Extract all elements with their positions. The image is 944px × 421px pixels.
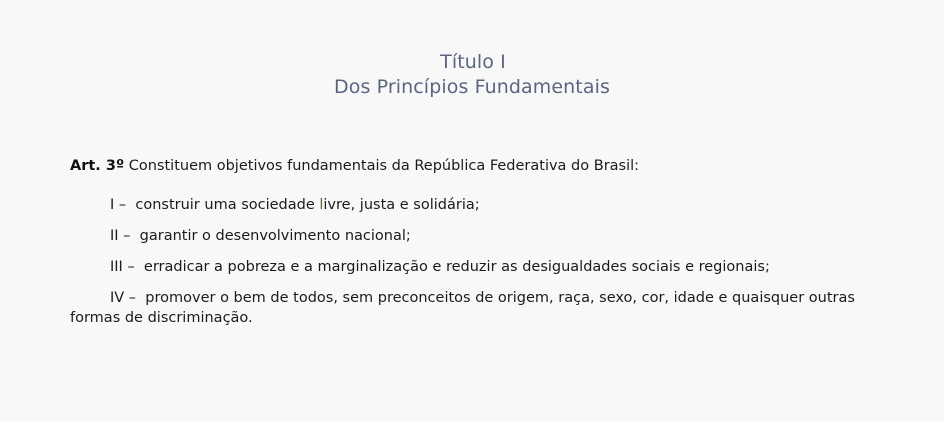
list-item-text: erradicar a pobreza e a marginalização e…	[139, 259, 770, 275]
list-item-text: promover o bem de todos, sem preconceito…	[70, 290, 855, 326]
article-lead-paragraph: Art. 3º Constituem objetivos fundamentai…	[70, 156, 884, 176]
list-item-dash: –	[123, 259, 139, 275]
list-item-numeral: II	[110, 228, 119, 244]
list-item-text: construir uma sociedade	[131, 197, 320, 213]
list-item-text: garantir o desenvolvimento nacional;	[135, 228, 411, 244]
document-page: Título I Dos Princípios Fundamentais Art…	[8, 0, 936, 421]
title-line-secondary: Dos Princípios Fundamentais	[8, 75, 936, 100]
article-body: Art. 3º Constituem objetivos fundamentai…	[8, 156, 936, 328]
list-item-numeral: III	[110, 259, 123, 275]
article-lead-text: Constituem objetivos fundamentais da Rep…	[124, 158, 639, 174]
list-item-dash: –	[119, 228, 135, 244]
article-number-label: Art. 3º	[70, 158, 124, 174]
list-item: I – construir uma sociedade livre, justa…	[70, 195, 884, 215]
list-item-dash: –	[114, 197, 130, 213]
list-item-dash: –	[124, 290, 140, 306]
list-item: IV – promover o bem de todos, sem precon…	[70, 288, 884, 328]
title-line-primary: Título I	[8, 50, 936, 75]
page-title: Título I Dos Princípios Fundamentais	[8, 0, 936, 100]
list-item: II – garantir o desenvolvimento nacional…	[70, 226, 884, 246]
objectives-list: I – construir uma sociedade livre, justa…	[70, 195, 884, 328]
list-item-numeral: IV	[110, 290, 124, 306]
list-item: III – erradicar a pobreza e a marginaliz…	[70, 257, 884, 277]
list-item-text-continued: ivre, justa e solidária;	[323, 197, 479, 213]
